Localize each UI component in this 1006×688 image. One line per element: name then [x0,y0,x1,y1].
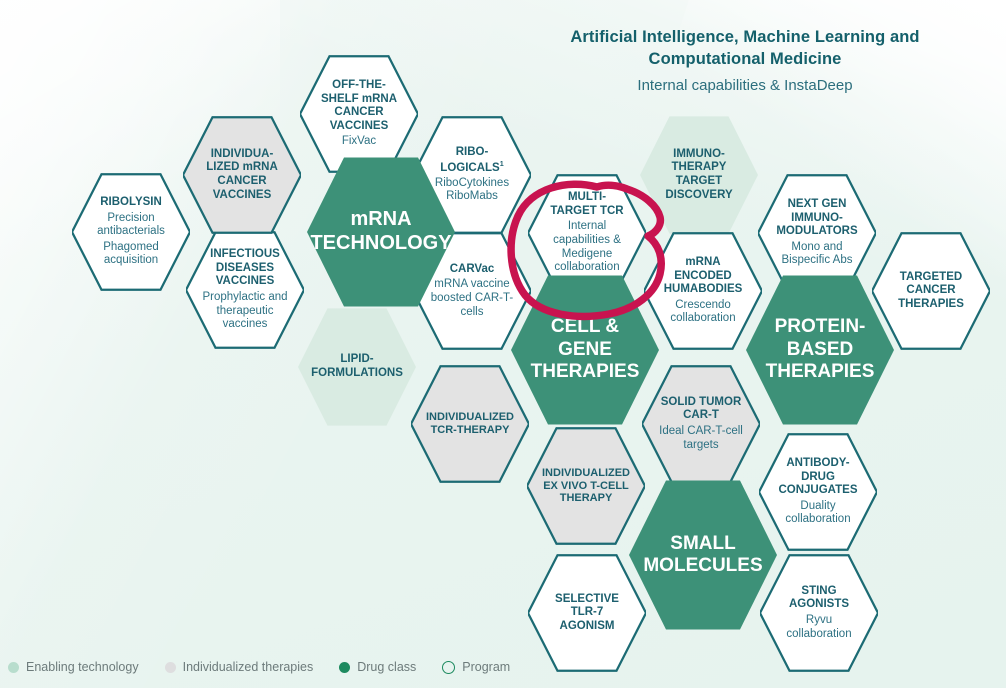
hex-cell-and-gene-therapies-name: CELL & GENE [529,316,642,361]
hex-multi-target-tcr-name: MULTI- TARGET TCR [542,191,632,218]
legend-dot-2 [339,662,350,673]
hex-mrna-technology-name: mRNA [310,208,451,232]
hex-immunotherapy-target-discovery[interactable]: IMMUNO- THERAPY TARGET DISCOVERY [640,116,758,234]
hex-cell-and-gene-therapies-name2: THERAPIES [529,361,642,383]
hex-targeted-cancer-therapies-name: TARGETED CANCER THERAPIES [898,271,964,312]
hex-antibody-drug-conjugates-name: ANTIBODY- DRUG CONJUGATES [773,457,863,498]
hex-solid-tumor-car-t-name: SOLID TUMOR CAR-T [656,396,746,423]
hex-immunotherapy-target-discovery-label: IMMUNO- THERAPY TARGET DISCOVERY [651,148,747,202]
hex-individualized-mrna-cancer-vaccines-label: INDIVIDUA- LIZED mRNA CANCER VACCINES [192,148,292,202]
hex-next-gen-immunomodulators-label: NEXT GEN IMMUNO- MODULATORSMono and Bisp… [758,198,876,268]
hex-sting-agonists-sub: Ryvu collaboration [774,614,864,641]
hex-cell-and-gene-therapies-label: CELL & GENETHERAPIES [511,316,659,383]
hex-small-molecules-name2: MOLECULES [643,555,762,577]
legend-label-1: Individualized therapies [183,660,314,674]
hex-protein-based-therapies-label: PROTEIN-BASEDTHERAPIES [748,316,892,383]
hex-ribolysin-name: RIBOLYSIN [86,196,176,210]
hex-off-the-shelf-mrna-cancer-vaccines[interactable]: OFF-THE- SHELF mRNA CANCER VACCINESFixVa… [300,55,418,173]
title-line-2: Computational Medicine [545,49,945,71]
hex-off-the-shelf-mrna-cancer-vaccines-name: OFF-THE- SHELF mRNA CANCER VACCINES [321,79,397,133]
hex-off-the-shelf-mrna-cancer-vaccines-label: OFF-THE- SHELF mRNA CANCER VACCINESFixVa… [307,79,411,149]
hex-next-gen-immunomodulators-sub: Mono and Bispecific Abs [772,241,862,268]
hex-solid-tumor-car-t[interactable]: SOLID TUMOR CAR-TIdeal CAR-T-cell target… [642,365,760,483]
hex-small-molecules-label: SMALLMOLECULES [626,533,781,578]
hex-individualized-ex-vivo-t-cell-therapy-label: INDIVIDUALIZED EX VIVO T-CELL THERAPY [528,467,644,506]
hex-infectious-diseases-vaccines-name: INFECTIOUS DISEASES VACCINES [200,248,290,289]
hex-mrna-technology-label: mRNATECHNOLOGY [293,208,470,255]
hex-individualized-tcr-therapy-name: INDIVIDUALIZED TCR-THERAPY [426,411,514,437]
legend-label-0: Enabling technology [26,660,139,674]
hex-protein-based-therapies[interactable]: PROTEIN-BASEDTHERAPIES [746,275,894,425]
hex-sting-agonists-name: STING AGONISTS [774,585,864,612]
hex-protein-based-therapies-name: PROTEIN- [766,316,875,338]
hex-multi-target-tcr-label: MULTI- TARGET TCRInternal capabilities &… [528,191,646,274]
hex-solid-tumor-car-t-label: SOLID TUMOR CAR-TIdeal CAR-T-cell target… [642,396,760,452]
hex-lipid-formulations-label: LIPID- FORMULATIONS [297,353,417,380]
hex-cell-and-gene-therapies[interactable]: CELL & GENETHERAPIES [511,275,659,425]
hex-targeted-cancer-therapies-label: TARGETED CANCER THERAPIES [884,271,978,312]
legend-label-2: Drug class [357,660,416,674]
hex-infectious-diseases-vaccines-label: INFECTIOUS DISEASES VACCINESProphylactic… [186,248,304,331]
legend-item-3: Program [442,660,510,674]
hex-ribolysin-sub2: Phagomed acquisition [86,241,176,268]
hex-mrna-encoded-humabodies[interactable]: mRNA ENCODED HUMABODIESCrescendo collabo… [644,232,762,350]
hex-individualized-mrna-cancer-vaccines[interactable]: INDIVIDUA- LIZED mRNA CANCER VACCINES [183,116,301,234]
legend-item-2: Drug class [339,660,416,674]
hex-antibody-drug-conjugates-sub: Duality collaboration [773,500,863,527]
hex-infectious-diseases-vaccines[interactable]: INFECTIOUS DISEASES VACCINESProphylactic… [186,231,304,349]
title-main: Artificial Intelligence, Machine Learnin… [545,27,945,71]
legend-item-0: Enabling technology [8,660,139,674]
hex-individualized-mrna-cancer-vaccines-name: INDIVIDUA- LIZED mRNA CANCER VACCINES [206,148,278,202]
hex-immunotherapy-target-discovery-name: IMMUNO- THERAPY TARGET DISCOVERY [665,148,732,202]
legend-label-3: Program [462,660,510,674]
hex-selective-tlr-7-agonism-name: SELECTIVE TLR-7 AGONISM [555,593,619,634]
hex-individualized-ex-vivo-t-cell-therapy[interactable]: INDIVIDUALIZED EX VIVO T-CELL THERAPY [527,427,645,545]
hex-off-the-shelf-mrna-cancer-vaccines-sub: FixVac [321,135,397,149]
legend-dot-0 [8,662,19,673]
legend-item-1: Individualized therapies [165,660,314,674]
hex-small-molecules[interactable]: SMALLMOLECULES [629,480,777,630]
hex-ribolysin-sub1: Precision antibacterials [86,212,176,239]
diagram-canvas: Artificial Intelligence, Machine Learnin… [0,0,1006,688]
hex-mrna-encoded-humabodies-name: mRNA ENCODED HUMABODIES [658,256,748,297]
hex-mrna-encoded-humabodies-label: mRNA ENCODED HUMABODIESCrescendo collabo… [644,256,762,326]
hex-next-gen-immunomodulators-name: NEXT GEN IMMUNO- MODULATORS [772,198,862,239]
title-subtitle: Internal capabilities & InstaDeep [545,76,945,96]
hex-lipid-formulations[interactable]: LIPID- FORMULATIONS [298,308,416,426]
hex-lipid-formulations-name: LIPID- FORMULATIONS [311,353,403,380]
legend-dot-3 [442,661,455,674]
title-line-1: Artificial Intelligence, Machine Learnin… [545,27,945,49]
hex-ribolysin[interactable]: RIBOLYSINPrecision antibacterialsPhagome… [72,173,190,291]
hex-small-molecules-name: SMALL [643,533,762,555]
hex-mrna-encoded-humabodies-sub: Crescendo collaboration [658,299,748,326]
hex-ribolysin-label: RIBOLYSINPrecision antibacterialsPhagome… [72,196,190,268]
hex-ribologicals-superscript: 1 [500,160,504,168]
hex-multi-target-tcr-sub: Internal capabilities & Medigene collabo… [542,220,632,274]
hex-mrna-technology[interactable]: mRNATECHNOLOGY [307,157,455,307]
hex-individualized-ex-vivo-t-cell-therapy-name: INDIVIDUALIZED EX VIVO T-CELL THERAPY [542,467,630,506]
legend: Enabling technologyIndividualized therap… [8,660,510,674]
page-title: Artificial Intelligence, Machine Learnin… [545,27,945,95]
hex-sting-agonists-label: STING AGONISTSRyvu collaboration [760,585,878,641]
hex-protein-based-therapies-name3: THERAPIES [766,361,875,383]
hex-infectious-diseases-vaccines-sub: Prophylactic and therapeutic vaccines [200,291,290,332]
hex-solid-tumor-car-t-sub: Ideal CAR-T-cell targets [656,425,746,452]
hex-protein-based-therapies-name2: BASED [766,339,875,361]
hex-selective-tlr-7-agonism-label: SELECTIVE TLR-7 AGONISM [541,593,633,634]
hex-mrna-technology-name2: TECHNOLOGY [310,232,451,256]
legend-dot-1 [165,662,176,673]
